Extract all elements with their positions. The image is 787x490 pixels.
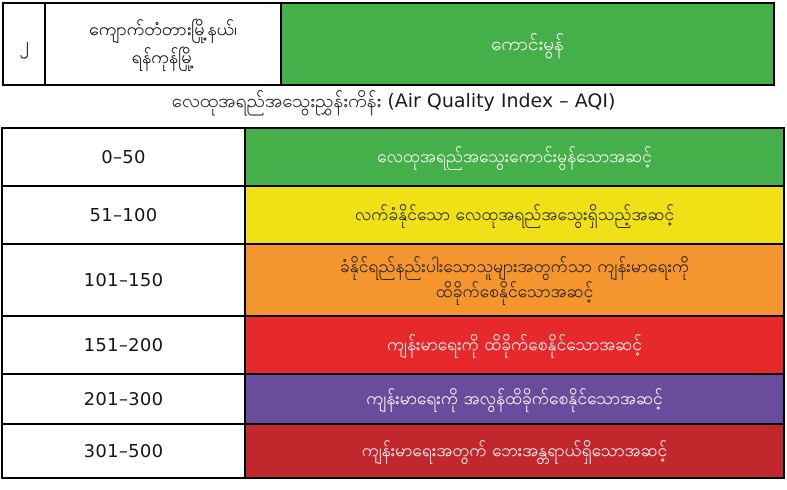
aqi-description-line-1: ခံနိုင်ရည်နည်းပါးသောသူများအတွက်သာ ကျန်းမ…: [258, 255, 771, 280]
location-line-1: ကျောက်တံတားမြို့နယ်၊: [54, 16, 272, 44]
aqi-description-cell: လေထုအရည်အသွေးကောင်းမွန်သောအဆင့်: [245, 128, 784, 186]
aqi-description-cell: ကျန်းမာရေးကို အလွန်ထိခိုက်စေနိုင်သောအဆင့…: [245, 374, 784, 424]
location-line-2: ရန်ကုန်မြို့: [54, 44, 272, 72]
row-index-cell: ၂: [3, 3, 45, 85]
location-name-cell: ကျောက်တံတားမြို့နယ်၊ ရန်ကုန်မြို့: [45, 3, 281, 85]
table-row: 301–500 ကျန်းမာရေးအတွက် ဘေးအန္တရာယ်ရှိသေ…: [2, 424, 784, 478]
aqi-levels-table: 0–50 လေထုအရည်အသွေးကောင်းမွန်သောအဆင့် 51–…: [1, 127, 785, 479]
table-row: 101–150 ခံနိုင်ရည်နည်းပါးသောသူများအတွက်သ…: [2, 244, 784, 316]
aqi-description-cell: ကျန်းမာရေးအတွက် ဘေးအန္တရာယ်ရှိသောအဆင့်: [245, 424, 784, 478]
page-title: လေထုအရည်အသွေးညွှန်းကိန်း (Air Quality In…: [0, 90, 787, 114]
aqi-range-cell: 0–50: [2, 128, 245, 186]
table-row: 201–300 ကျန်းမာရေးကို အလွန်ထိခိုက်စေနိုင…: [2, 374, 784, 424]
aqi-description-cell: ကျန်းမာရေးကို ထိခိုက်စေနိုင်သောအဆင့်: [245, 316, 784, 374]
aqi-description-line-2: ထိခိုက်စေနိုင်သောအဆင့်: [258, 280, 771, 305]
aqi-range-cell: 301–500: [2, 424, 245, 478]
table-row: 51–100 လက်ခံနိုင်သော လေထုအရည်အသွေးရှိသည့…: [2, 186, 784, 244]
aqi-range-cell: 101–150: [2, 244, 245, 316]
aqi-range-cell: 201–300: [2, 374, 245, 424]
table-row: ၂ ကျောက်တံတားမြို့နယ်၊ ရန်ကုန်မြို့ ကောင…: [3, 3, 774, 85]
aqi-description-cell: ခံနိုင်ရည်နည်းပါးသောသူများအတွက်သာ ကျန်းမ…: [245, 244, 784, 316]
table-row: 151–200 ကျန်းမာရေးကို ထိခိုက်စေနိုင်သောအ…: [2, 316, 784, 374]
aqi-description-cell: လက်ခံနိုင်သော လေထုအရည်အသွေးရှိသည့်အဆင့်: [245, 186, 784, 244]
location-status-table: ၂ ကျောက်တံတားမြို့နယ်၊ ရန်ကုန်မြို့ ကောင…: [2, 2, 775, 86]
aqi-range-cell: 151–200: [2, 316, 245, 374]
table-row: 0–50 လေထုအရည်အသွေးကောင်းမွန်သောအဆင့်: [2, 128, 784, 186]
aqi-range-cell: 51–100: [2, 186, 245, 244]
air-quality-status-cell: ကောင်းမွန်: [281, 3, 774, 85]
